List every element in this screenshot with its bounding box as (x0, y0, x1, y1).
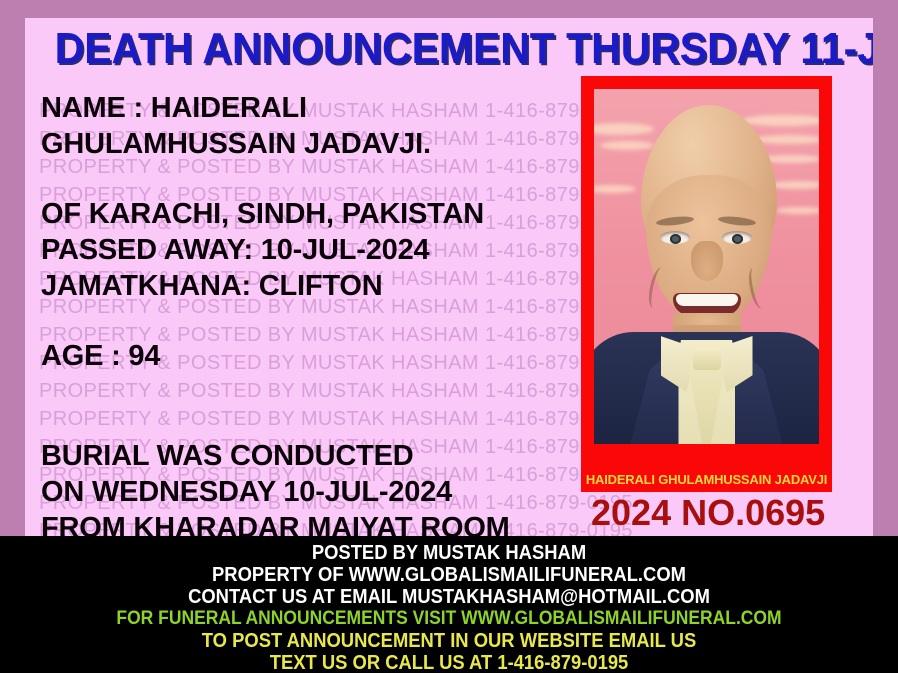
photo-caption: HAIDERALI GHULAMHUSSAIN JADAVJI (581, 468, 832, 492)
portrait-photo (594, 89, 819, 444)
portrait-photo-frame (581, 76, 832, 468)
reference-number: 2024 NO.0695 (581, 492, 839, 534)
burial-line-1: BURIAL WAS CONDUCTED (41, 438, 601, 474)
burial-line-3: FROM KHARADAR MAIYAT ROOM (41, 510, 601, 536)
deceased-name-line-2: GHULAMHUSSAIN JADAVJI. (41, 126, 601, 162)
footer-phone: TEXT US OR CALL US AT 1-416-879-0195 (36, 652, 862, 673)
passed-away-line: PASSED AWAY: 10-JUL-2024 (41, 232, 601, 268)
page-title: DEATH ANNOUNCEMENT THURSDAY 11-JUL-2024 (55, 18, 844, 80)
spacer (41, 408, 601, 438)
eye-right (722, 231, 752, 244)
smile-line-right (746, 266, 769, 310)
necktie-knot (693, 348, 721, 370)
footer-contact-email: CONTACT US AT EMAIL MUSTAKHASHAM@HOTMAIL… (36, 586, 862, 608)
burial-line-2: ON WEDNESDAY 10-JUL-2024 (41, 474, 601, 510)
spacer (41, 374, 601, 408)
jamatkhana-line: JAMATKHANA: CLIFTON (41, 268, 601, 304)
age-line: AGE : 94 (41, 338, 601, 374)
death-announcement-poster: PROPERTY & POSTED BY MUSTAK HASHAM 1-416… (0, 0, 898, 673)
footer-posted-by: POSTED BY MUSTAK HASHAM (36, 542, 862, 564)
footer-property-of: PROPERTY OF WWW.GLOBALISMAILIFUNERAL.COM (36, 564, 862, 586)
spacer (41, 162, 601, 196)
mouth (673, 293, 741, 315)
deceased-name-line-1: NAME : HAIDERALI (41, 90, 601, 126)
origin-line: OF KARACHI, SINDH, PAKISTAN (41, 196, 601, 232)
spacer (41, 304, 601, 338)
eye-left (660, 231, 690, 244)
footer-credits: POSTED BY MUSTAK HASHAM PROPERTY OF WWW.… (0, 536, 898, 673)
footer-post-announcement: TO POST ANNOUNCEMENT IN OUR WEBSITE EMAI… (36, 630, 862, 652)
nose (691, 241, 723, 281)
footer-announcements-website: FOR FUNERAL ANNOUNCEMENTS VISIT WWW.GLOB… (36, 608, 862, 630)
announcement-body: NAME : HAIDERALI GHULAMHUSSAIN JADAVJI. … (41, 90, 601, 536)
